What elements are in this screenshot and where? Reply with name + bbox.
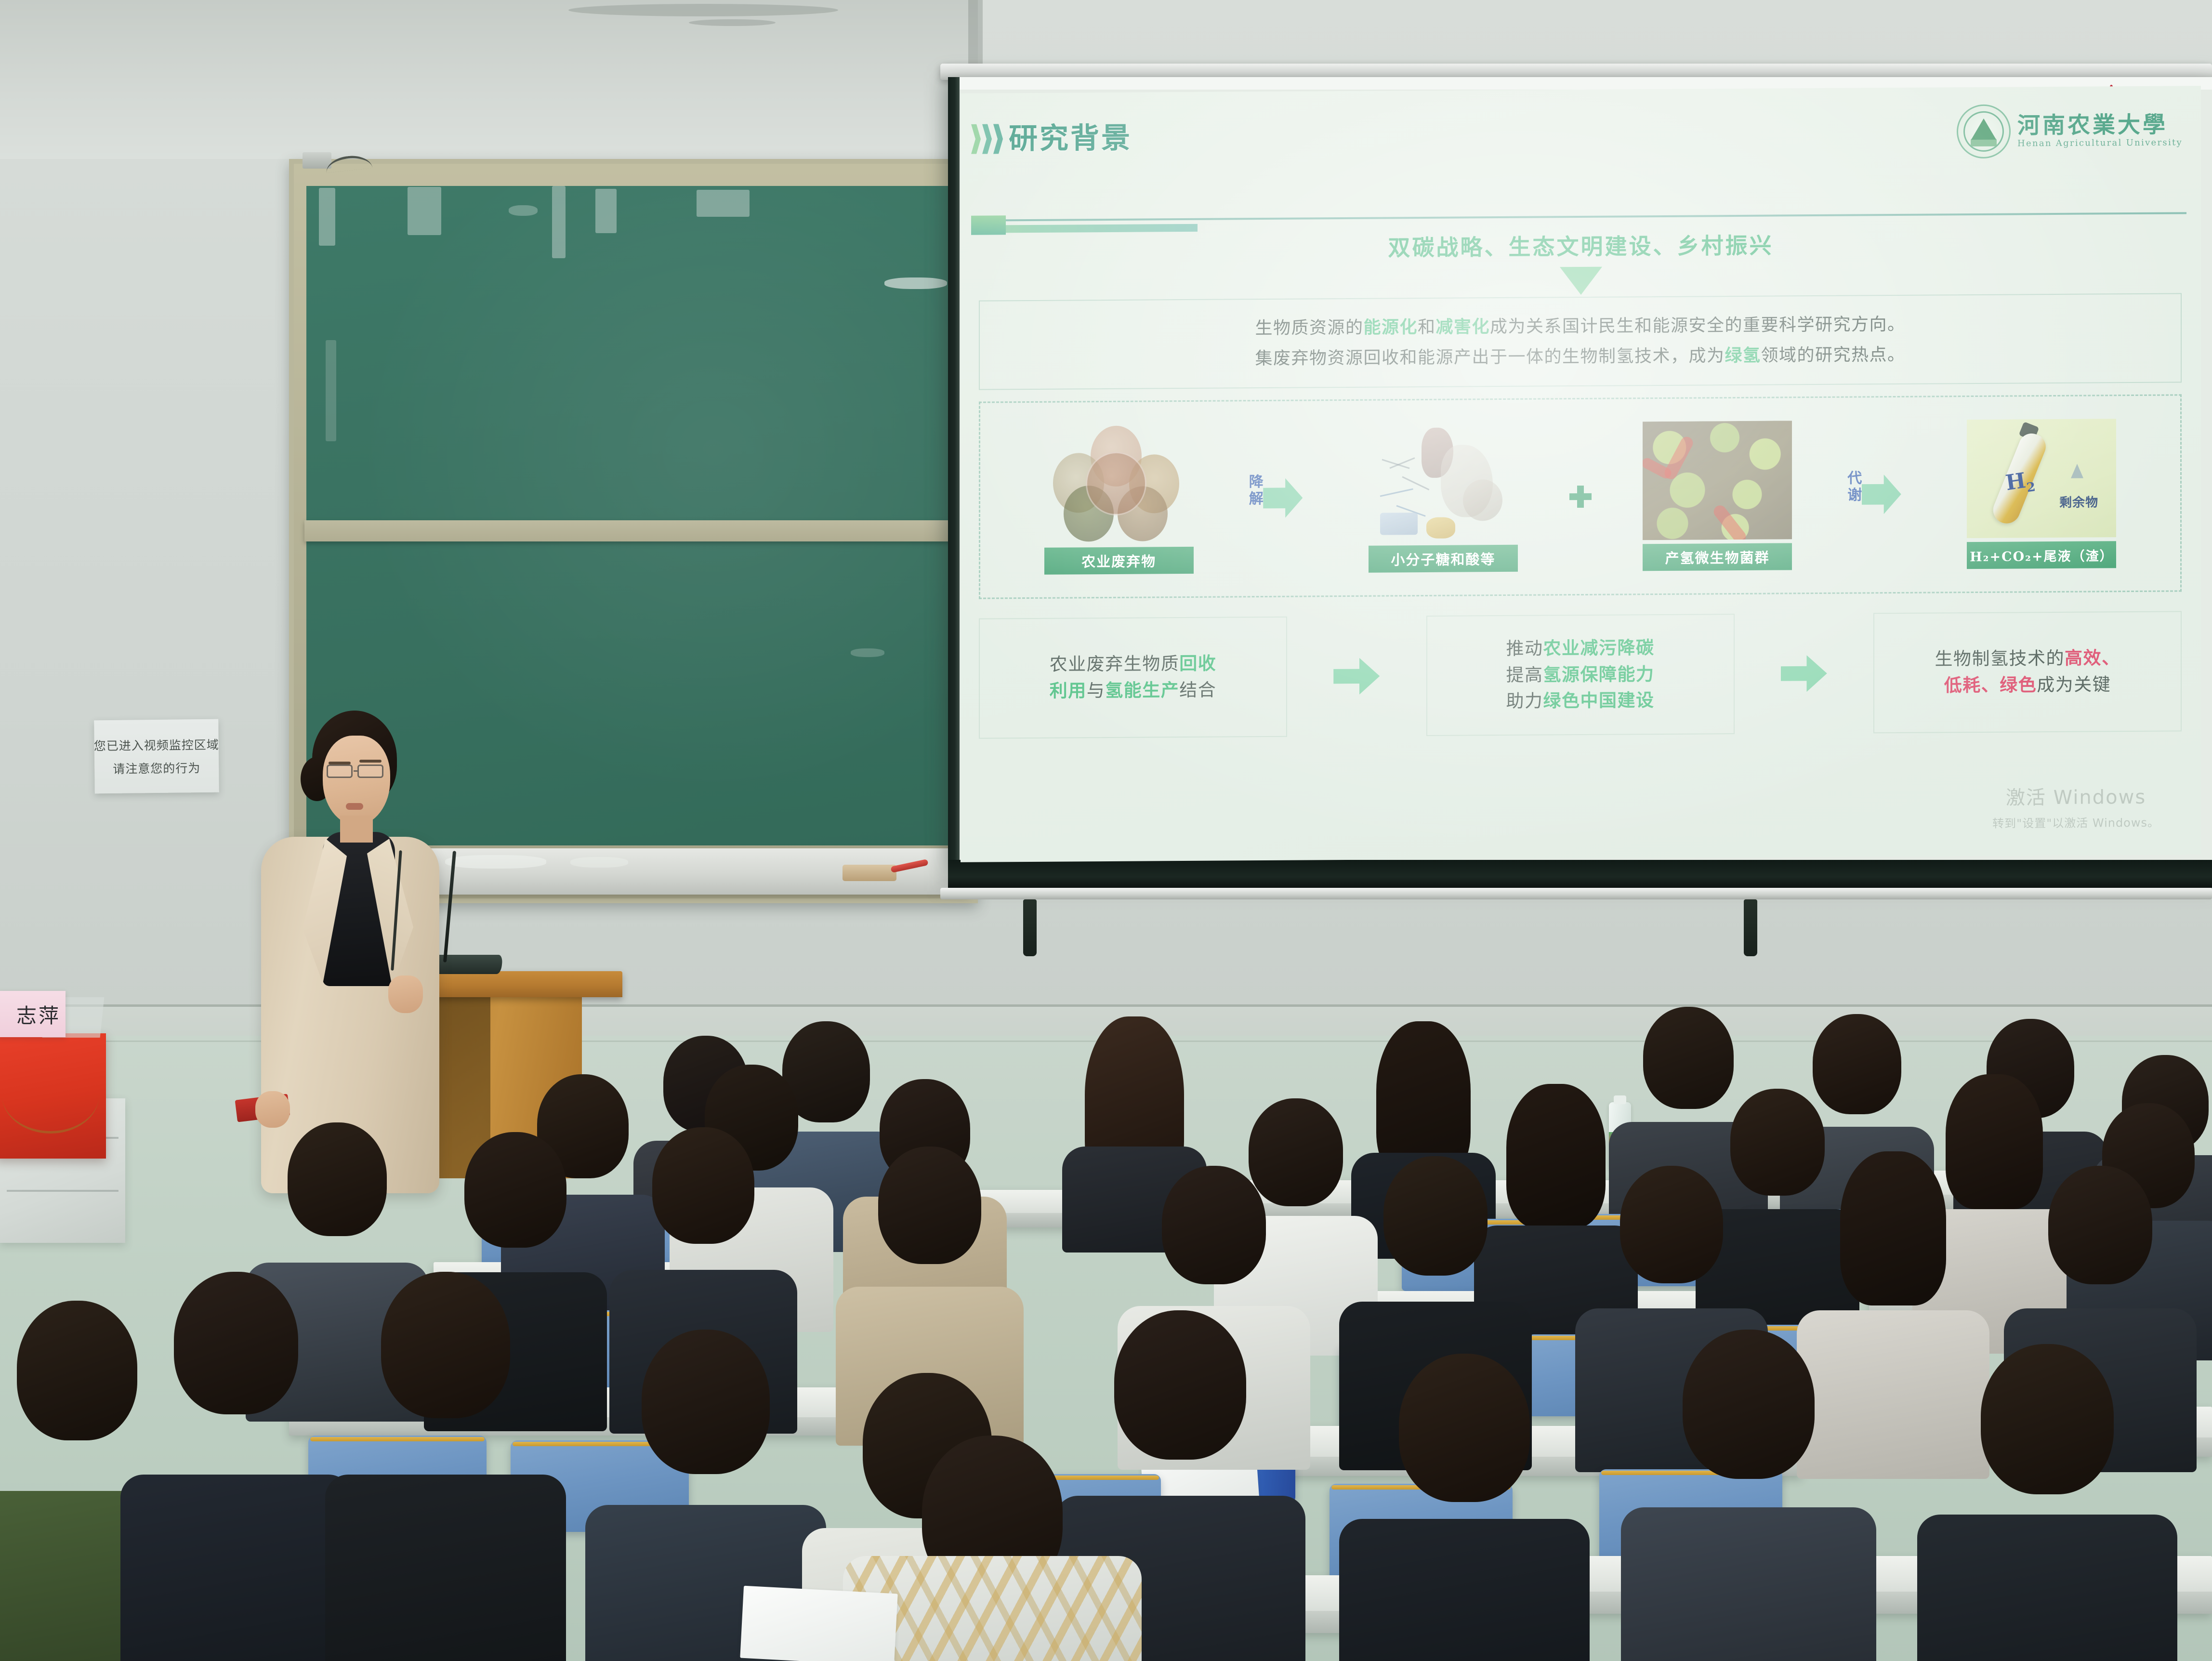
audience-person-foreground (906, 1436, 1079, 1661)
name-card-text: 志萍 (16, 1000, 61, 1029)
papers-on-desk (740, 1586, 897, 1661)
process-arrow-metabolism: 代谢 (1843, 451, 1916, 539)
process-node-label: 产氢微生物菌群 (1643, 543, 1792, 571)
notice-line-2: 请注意您的行为 (113, 759, 200, 777)
presenter-hand-right (388, 976, 423, 1013)
presenter-neck (340, 816, 373, 843)
process-arrow-degradation: 降解 (1245, 455, 1317, 542)
audience-person (1493, 1084, 1619, 1320)
cylinder-h2-label: H2 (2004, 467, 2036, 499)
audience-person (1667, 1330, 1830, 1661)
screen-weight-bar (940, 888, 2212, 899)
outcome-arrow-2 (1773, 613, 1835, 734)
ceiling-slab (0, 0, 978, 159)
outcome-line: 利用与氢能生产结合 (1050, 681, 1217, 701)
hydrogen-cylinder-image: H2 剩余物 (1967, 419, 2116, 538)
audience-person (1826, 1151, 1961, 1436)
process-node-small-molecules: 小分子糖和酸等 (1369, 422, 1518, 573)
board-divider-rail (304, 520, 964, 541)
process-node-agricultural-waste: 农业废弃物 (1044, 424, 1194, 575)
university-name-cn: 河南农業大學 (2017, 113, 2183, 137)
surveillance-notice-sign: 您已进入视频监控区域 请注意您的行为 (94, 719, 219, 794)
statement-line-1: 生物质资源的能源化和减害化成为关系国计民生和能源安全的重要科学研究方向。 (1255, 314, 1905, 338)
arrow-right-icon (1781, 655, 1827, 692)
small-molecules-image (1369, 422, 1518, 542)
university-logo: 河南农業大學 Henan Agricultural University (1957, 103, 2183, 158)
outcome-line: 低耗、绿色成为关键 (1944, 675, 2111, 696)
audience-person (1965, 1344, 2129, 1661)
watermark-line-1: 激活 Windows (1992, 781, 2159, 810)
outcome-box-2: 推动农业减污降碳 提高氢源保障能力 助力绿色中国建设 (1426, 614, 1735, 736)
title-tab-block (971, 215, 1006, 235)
screen-bracket-right (1744, 899, 1757, 956)
leftover-label: 剩余物 (2059, 492, 2098, 510)
screen-left-edge (948, 77, 960, 860)
presenter-person (250, 706, 453, 1187)
name-card: 志萍 (0, 991, 66, 1037)
notice-line-1: 您已进入视频监控区域 (94, 736, 219, 754)
statement-box: 生物质资源的能源化和减害化成为关系国计民生和能源安全的重要科学研究方向。 集废弃… (979, 293, 2182, 390)
presenter-mouth (346, 803, 363, 810)
arrow-right-icon (1333, 658, 1380, 695)
process-node-label: 农业废弃物 (1044, 547, 1194, 575)
lecture-hall-scene: 您已进入视频监控区域 请注意您的行为 THREELEAVES 研究背景 河 (0, 0, 2212, 1661)
outcome-box-1: 农业废弃生物质回收 利用与氢能生产结合 (979, 617, 1287, 739)
slide-title: 研究背景 (1009, 115, 1132, 158)
presenter-face (323, 736, 390, 825)
outcome-arrow-1 (1325, 616, 1388, 737)
outcome-line: 生物制氢技术的高效、 (1935, 648, 2120, 669)
arrow-icon (1862, 475, 1901, 514)
outcome-line: 农业废弃生物质回收 (1050, 654, 1217, 675)
audience-person (159, 1272, 313, 1661)
audience-person (1382, 1354, 1546, 1661)
title-rule (971, 212, 2186, 221)
microbe-community-image (1643, 421, 1792, 540)
university-seal-icon (1957, 105, 2011, 159)
board-clip (303, 152, 331, 169)
statement-line-2: 集废弃物资源回收和能源产出于一体的生物制氢技术，成为绿氢领域的研究热点。 (1255, 345, 1905, 369)
slide-header: 研究背景 河南农業大學 Henan Agricultural Universit… (961, 103, 2201, 202)
outcome-line: 助力绿色中国建设 (1506, 691, 1655, 712)
outcome-boxes: 农业废弃生物质回收 利用与氢能生产结合 推动农业减污降碳 提高氢源保障能力 助力… (979, 611, 2182, 738)
audience-person (366, 1272, 525, 1661)
red-banner-cloth (0, 1033, 106, 1159)
process-diagram: 农业废弃物 降解 小分子糖和酸等 (979, 394, 2182, 599)
outcome-box-3: 生物制氢技术的高效、 低耗、绿色成为关键 (1873, 611, 2182, 733)
presenter-brow-right (359, 760, 382, 763)
outcome-line: 提高氢源保障能力 (1506, 665, 1655, 685)
plus-operator-icon (1569, 486, 1592, 508)
screen-bracket-left (1023, 899, 1037, 956)
presentation-slide: 研究背景 河南农業大學 Henan Agricultural Universit… (961, 86, 2201, 862)
down-arrow-icon (1560, 267, 1602, 295)
windows-activation-watermark: 激活 Windows 转到"设置"以激活 Windows。 (1992, 781, 2159, 831)
process-node-hydrogen-microbes: 产氢微生物菌群 (1643, 421, 1792, 571)
screen-bottom-bar (948, 860, 2212, 888)
watermark-line-2: 转到"设置"以激活 Windows。 (1992, 813, 2159, 831)
agricultural-waste-image (1044, 424, 1194, 544)
presenter-glasses (324, 765, 389, 779)
university-name-en: Henan Agricultural University (2017, 138, 2183, 148)
outcome-line: 推动农业减污降碳 (1506, 638, 1655, 659)
chevrons-icon (971, 124, 1003, 154)
process-node-hydrogen-output: H2 剩余物 H₂+CO₂+尾液（渣） (1967, 419, 2116, 569)
process-node-label: 小分子糖和酸等 (1369, 545, 1518, 573)
process-node-label: H₂+CO₂+尾液（渣） (1967, 541, 2116, 569)
arrow-icon (1263, 478, 1303, 518)
